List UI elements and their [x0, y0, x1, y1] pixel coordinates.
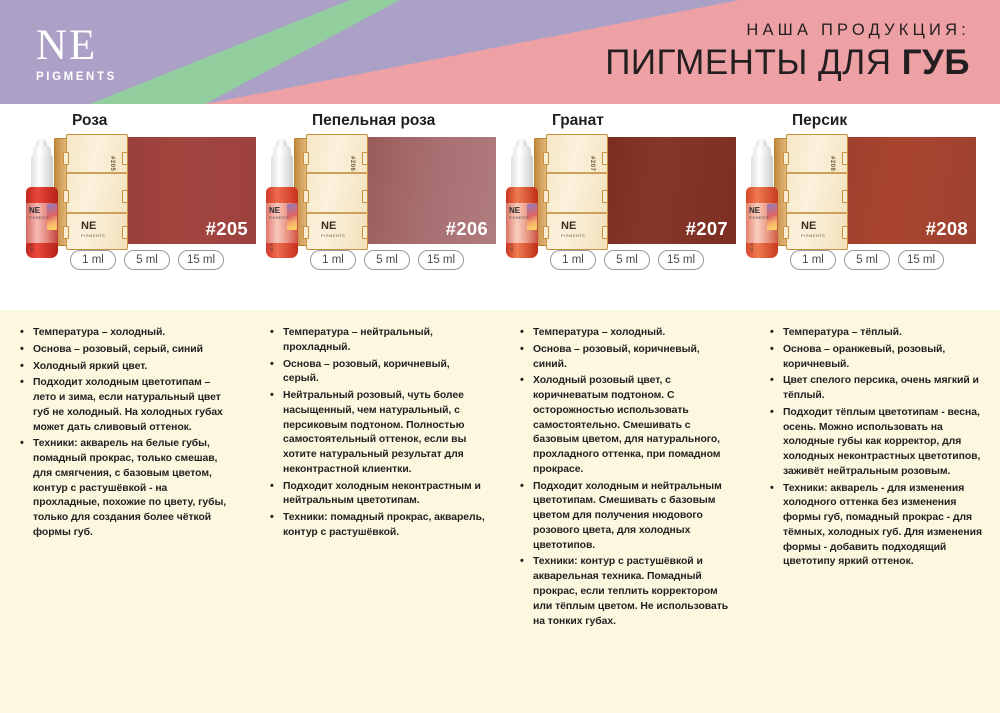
box-logo-subtitle: PIGMENTS	[561, 234, 585, 238]
bottle-logo-subtitle: PIGMENTS	[509, 216, 529, 220]
product-code: #207	[686, 218, 728, 240]
bottle-neck	[31, 155, 53, 191]
description-bullet: Температура – тёплый.	[768, 326, 986, 341]
description-bullet: Техники: акварель на белые губы, помадны…	[18, 437, 236, 540]
size-pill[interactable]: 5 ml	[364, 250, 410, 270]
size-pill[interactable]: 5 ml	[124, 250, 170, 270]
box-seam-top	[786, 172, 848, 174]
pigment-bottle-image: NEPIGMENTS#206	[264, 146, 300, 258]
box-notch	[122, 226, 128, 239]
pigment-bottle-image: NEPIGMENTS#205	[24, 146, 60, 258]
bottle-logo-subtitle: PIGMENTS	[749, 216, 769, 220]
box-notch	[303, 152, 309, 165]
box-seam-bottom	[786, 212, 848, 214]
description-bullet: Техники: помадный прокрас, акварель, кон…	[268, 511, 486, 541]
description-bullet: Цвет спелого персика, очень мягкий и тёп…	[768, 374, 986, 404]
bottle-product-code: #208	[750, 243, 754, 252]
box-front-panel	[306, 134, 368, 250]
box-notch	[303, 226, 309, 239]
product-code: #205	[206, 218, 248, 240]
size-options: 1 ml5 ml15 ml	[790, 250, 944, 270]
size-options: 1 ml5 ml15 ml	[550, 250, 704, 270]
size-pill[interactable]: 15 ml	[898, 250, 944, 270]
bottle-product-code: #206	[270, 243, 274, 252]
header-text-block: НАША ПРОДУКЦИЯ: ПИГМЕНТЫ ДЛЯ ГУБ	[605, 21, 970, 83]
size-options: 1 ml5 ml15 ml	[310, 250, 464, 270]
box-notch	[122, 190, 128, 203]
box-notch	[122, 152, 128, 165]
brand-logo: NE PIGMENTS	[36, 26, 117, 83]
description-column: Температура – нейтральный, прохладный.Ос…	[250, 326, 500, 631]
header-eyebrow: НАША ПРОДУКЦИЯ:	[605, 21, 970, 40]
size-pill[interactable]: 15 ml	[178, 250, 224, 270]
description-bullet: Подходит холодным неконтрастным и нейтра…	[268, 480, 486, 510]
box-notch	[362, 152, 368, 165]
header-title-normal: ПИГМЕНТЫ ДЛЯ	[605, 43, 902, 82]
box-product-code: #208	[829, 156, 835, 171]
pigment-bottle-image: NEPIGMENTS#207	[504, 146, 540, 258]
box-notch	[783, 152, 789, 165]
header-title: ПИГМЕНТЫ ДЛЯ ГУБ	[605, 43, 970, 83]
box-notch	[362, 226, 368, 239]
description-bullet: Подходит холодным цветотипам – лето и зи…	[18, 376, 236, 435]
wooden-box-image: #207NEPIGMENTS	[534, 134, 608, 250]
box-notch	[842, 190, 848, 203]
pigment-bottle-image: NEPIGMENTS#208	[744, 146, 780, 258]
description-bullet: Холодный яркий цвет.	[18, 360, 236, 375]
description-list: Температура – нейтральный, прохладный.Ос…	[268, 326, 486, 541]
box-notch	[543, 190, 549, 203]
bottle-product-code: #207	[510, 243, 514, 252]
description-column: Температура – холодный.Основа – розовый,…	[0, 326, 250, 631]
box-notch	[602, 226, 608, 239]
bottle-logo-subtitle: PIGMENTS	[269, 216, 289, 220]
bottle-body: NEPIGMENTS#206	[266, 187, 298, 258]
box-notch	[303, 190, 309, 203]
box-notch	[602, 152, 608, 165]
box-seam-bottom	[306, 212, 368, 214]
description-bullet: Температура – холодный.	[518, 326, 736, 341]
box-notch	[783, 226, 789, 239]
box-front-panel	[546, 134, 608, 250]
description-column: Температура – холодный.Основа – розовый,…	[500, 326, 750, 631]
box-logo: NE	[321, 221, 336, 232]
size-pill[interactable]: 5 ml	[604, 250, 650, 270]
product-card[interactable]: Роза#205#205NEPIGMENTSNEPIGMENTS#2051 ml…	[24, 104, 264, 310]
box-notch	[543, 226, 549, 239]
size-pill[interactable]: 1 ml	[70, 250, 116, 270]
product-name: Гранат	[552, 112, 604, 130]
product-card[interactable]: Гранат#207#207NEPIGMENTSNEPIGMENTS#2071 …	[504, 104, 744, 310]
description-bullet: Основа – розовый, коричневый, серый.	[268, 358, 486, 388]
bottle-product-code: #205	[30, 243, 34, 252]
description-bullet: Подходит холодным и нейтральным цветотип…	[518, 480, 736, 554]
poster-page: NE PIGMENTS НАША ПРОДУКЦИЯ: ПИГМЕНТЫ ДЛЯ…	[0, 0, 1000, 713]
bottle-body: NEPIGMENTS#208	[746, 187, 778, 258]
box-front-panel	[66, 134, 128, 250]
description-bullet: Холодный розовый цвет, с коричневатым по…	[518, 374, 736, 477]
product-code: #208	[926, 218, 968, 240]
bottle-body: NEPIGMENTS#205	[26, 187, 58, 258]
description-list: Температура – холодный.Основа – розовый,…	[518, 326, 736, 629]
box-seam-top	[66, 172, 128, 174]
box-logo: NE	[81, 221, 96, 232]
product-card[interactable]: Персик#208#208NEPIGMENTSNEPIGMENTS#2081 …	[744, 104, 984, 310]
wooden-box-image: #205NEPIGMENTS	[54, 134, 128, 250]
bottle-neck	[751, 155, 773, 191]
size-pill[interactable]: 1 ml	[310, 250, 356, 270]
product-row: Роза#205#205NEPIGMENTSNEPIGMENTS#2051 ml…	[0, 104, 1000, 310]
product-card[interactable]: Пепельная роза#206#206NEPIGMENTSNEPIGMEN…	[264, 104, 504, 310]
box-notch	[543, 152, 549, 165]
box-seam-bottom	[546, 212, 608, 214]
size-pill[interactable]: 15 ml	[418, 250, 464, 270]
bottle-logo: NE	[269, 207, 280, 215]
box-notch	[63, 152, 69, 165]
description-bullet: Подходит тёплым цветотипам - весна, осен…	[768, 406, 986, 480]
size-options: 1 ml5 ml15 ml	[70, 250, 224, 270]
brand-logo-subtitle: PIGMENTS	[36, 71, 117, 83]
box-front-panel	[786, 134, 848, 250]
box-notch	[842, 226, 848, 239]
description-bullet: Температура – нейтральный, прохладный.	[268, 326, 486, 356]
bottle-logo-subtitle: PIGMENTS	[29, 216, 49, 220]
description-bullet: Техники: акварель - для изменения холодн…	[768, 482, 986, 571]
description-list: Температура – холодный.Основа – розовый,…	[18, 326, 236, 541]
box-seam-top	[306, 172, 368, 174]
box-notch	[63, 226, 69, 239]
description-column: Температура – тёплый.Основа – оранжевый,…	[750, 326, 1000, 631]
size-pill[interactable]: 1 ml	[550, 250, 596, 270]
description-bullet: Температура – холодный.	[18, 326, 236, 341]
box-product-code: #207	[589, 156, 595, 171]
description-bullet: Нейтральный розовый, чуть более насыщенн…	[268, 389, 486, 478]
box-notch	[783, 190, 789, 203]
description-bullet: Основа – оранжевый, розовый, коричневый.	[768, 343, 986, 373]
product-code: #206	[446, 218, 488, 240]
page-header: NE PIGMENTS НАША ПРОДУКЦИЯ: ПИГМЕНТЫ ДЛЯ…	[0, 0, 1000, 104]
box-notch	[63, 190, 69, 203]
description-bullet: Основа – розовый, серый, синий	[18, 343, 236, 358]
size-pill[interactable]: 1 ml	[790, 250, 836, 270]
box-seam-bottom	[66, 212, 128, 214]
box-logo: NE	[561, 221, 576, 232]
wooden-box-image: #206NEPIGMENTS	[294, 134, 368, 250]
bottle-logo: NE	[749, 207, 760, 215]
description-bullet: Техники: контур с растушёвкой и акварель…	[518, 555, 736, 629]
size-pill[interactable]: 15 ml	[658, 250, 704, 270]
box-notch	[602, 190, 608, 203]
box-product-code: #206	[349, 156, 355, 171]
bottle-neck	[271, 155, 293, 191]
product-name: Пепельная роза	[312, 112, 435, 130]
description-bullet: Основа – розовый, коричневый, синий.	[518, 343, 736, 373]
box-notch	[842, 152, 848, 165]
box-logo-subtitle: PIGMENTS	[321, 234, 345, 238]
description-band: Температура – холодный.Основа – розовый,…	[0, 310, 1000, 713]
description-columns: Температура – холодный.Основа – розовый,…	[0, 310, 1000, 631]
header-title-bold: ГУБ	[902, 43, 970, 82]
box-seam-top	[546, 172, 608, 174]
box-notch	[362, 190, 368, 203]
box-logo: NE	[801, 221, 816, 232]
box-product-code: #205	[109, 156, 115, 171]
bottle-body: NEPIGMENTS#207	[506, 187, 538, 258]
bottle-logo: NE	[29, 207, 40, 215]
size-pill[interactable]: 5 ml	[844, 250, 890, 270]
box-logo-subtitle: PIGMENTS	[81, 234, 105, 238]
wooden-box-image: #208NEPIGMENTS	[774, 134, 848, 250]
brand-logo-main: NE	[36, 26, 117, 67]
description-list: Температура – тёплый.Основа – оранжевый,…	[768, 326, 986, 570]
bottle-neck	[511, 155, 533, 191]
box-logo-subtitle: PIGMENTS	[801, 234, 825, 238]
product-name: Роза	[72, 112, 107, 130]
bottle-logo: NE	[509, 207, 520, 215]
product-name: Персик	[792, 112, 847, 130]
